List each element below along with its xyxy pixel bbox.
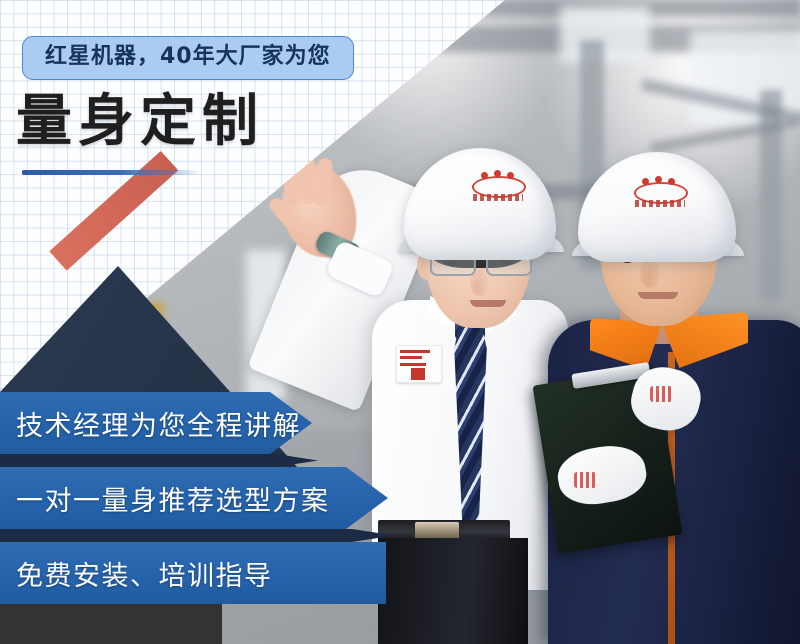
feature-banner-3-label: 免费安装、培训指导 bbox=[16, 554, 273, 593]
feature-banner-2[interactable]: 一对一量身推荐选型方案 bbox=[0, 467, 388, 529]
feature-list: 技术经理为您全程讲解 一对一量身推荐选型方案 免费安装、培训指导 bbox=[0, 0, 800, 644]
feature-banner-2-shadow bbox=[0, 529, 394, 542]
feature-banner-1[interactable]: 技术经理为您全程讲解 bbox=[0, 392, 312, 454]
promo-banner: 红星机器，40年大厂家为您 量身定制 技术经理为您全程讲解 一对一量身推荐选型方… bbox=[0, 0, 800, 644]
feature-banner-1-shadow bbox=[0, 454, 318, 467]
feature-banner-1-label: 技术经理为您全程讲解 bbox=[16, 404, 301, 443]
footer-band bbox=[0, 604, 222, 644]
feature-banner-3[interactable]: 免费安装、培训指导 bbox=[0, 542, 386, 604]
feature-banner-2-label: 一对一量身推荐选型方案 bbox=[16, 479, 330, 518]
